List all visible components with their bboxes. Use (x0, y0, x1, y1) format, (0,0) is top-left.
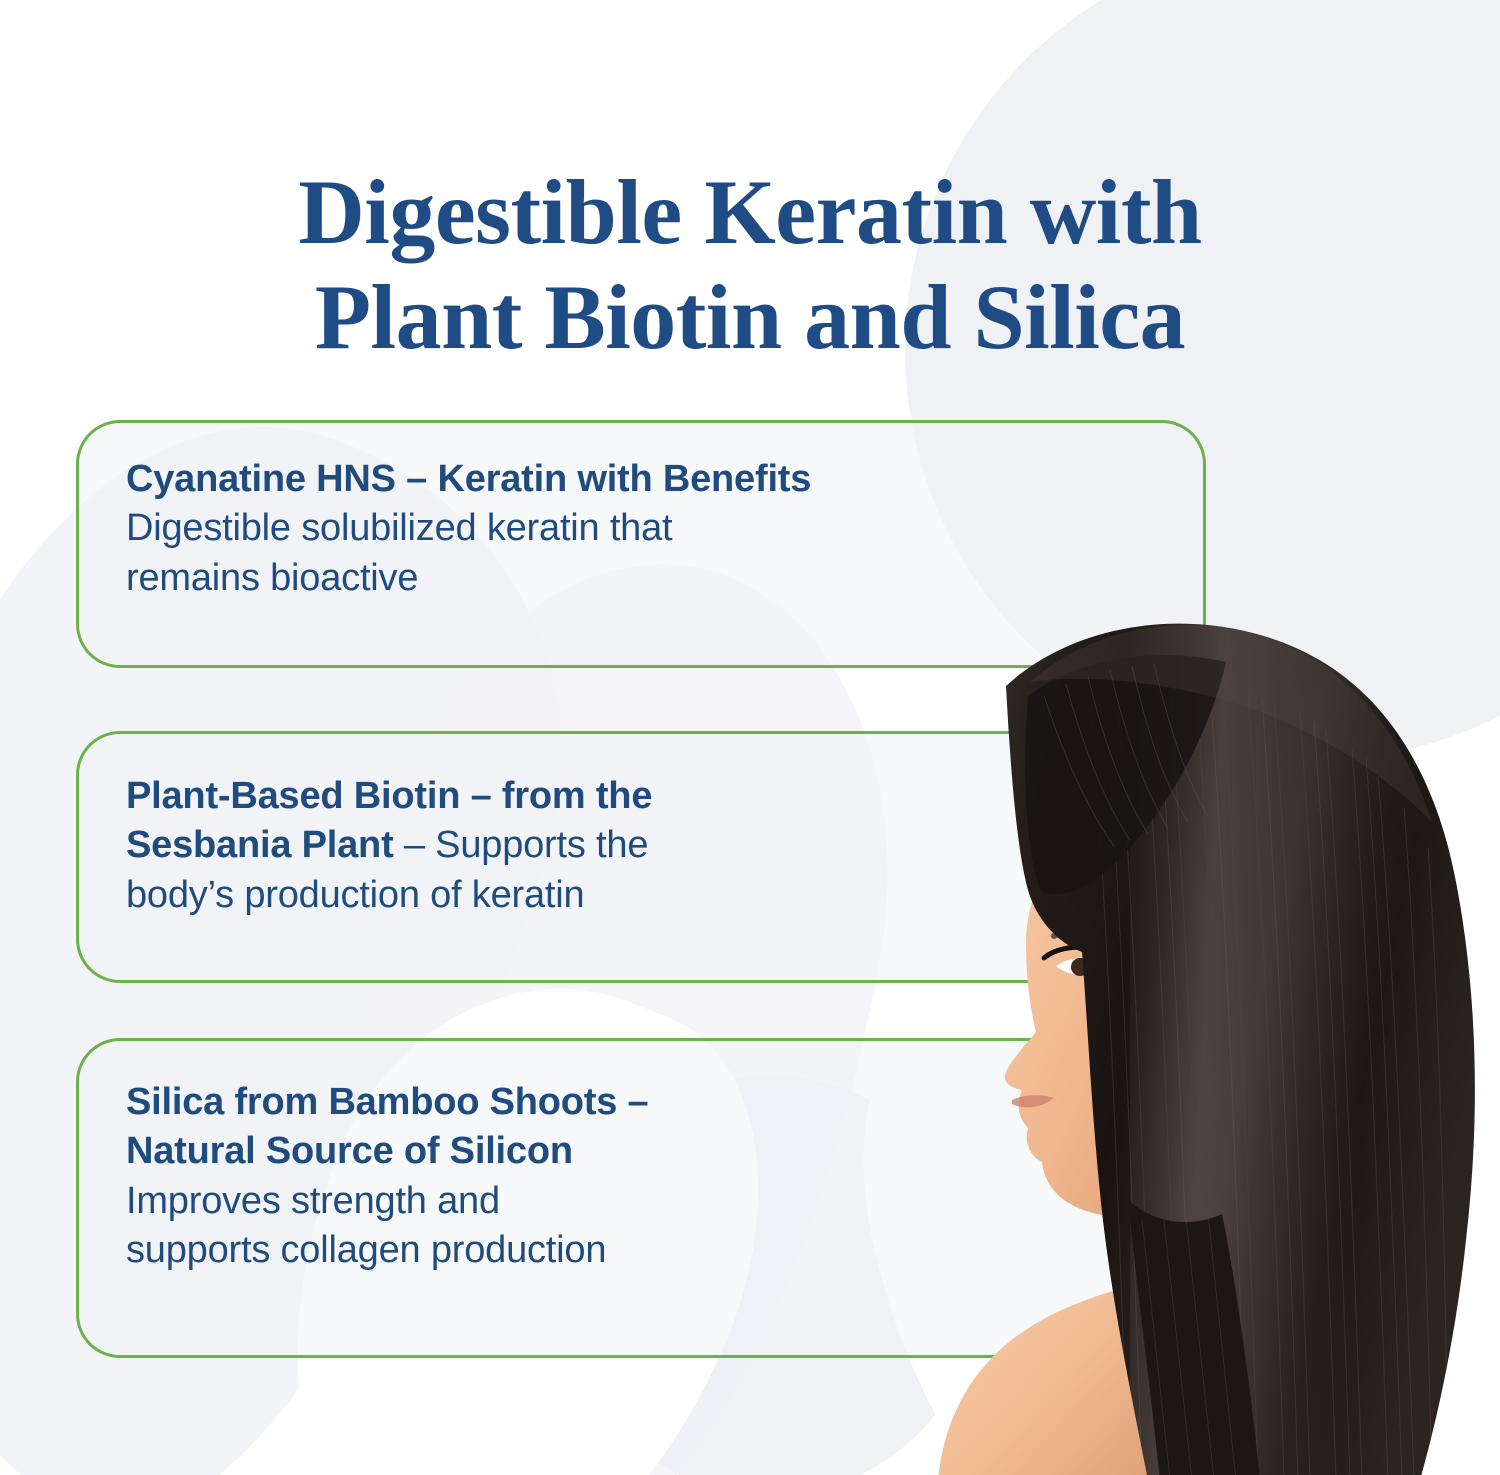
page-title-line-1: Digestible Keratin with (0, 160, 1500, 265)
benefit-heading-cyanatine: Cyanatine HNS – Keratin with Benefits (126, 455, 1136, 504)
benefit-text-plant-biotin: Plant-Based Biotin – from the Sesbania P… (126, 772, 906, 920)
benefit-body-plant-biotin-2: body’s production of keratin (126, 871, 906, 920)
benefit-text-silica: Silica from Bamboo Shoots – Natural Sour… (126, 1078, 886, 1276)
benefit-body-cyanatine-1: Digestible solubilized keratin that (126, 504, 1136, 553)
page-title-line-2: Plant Biotin and Silica (0, 265, 1500, 370)
infographic-canvas: Digestible Keratin with Plant Biotin and… (0, 0, 1500, 1475)
benefit-body-silica-2: supports collagen production (126, 1226, 886, 1275)
benefit-heading-plant-biotin-1: Plant-Based Biotin – from the (126, 772, 906, 821)
benefit-body-silica-1: Improves strength and (126, 1177, 886, 1226)
benefit-body-plant-biotin-1: – Supports the (394, 824, 649, 866)
benefit-heading-silica-1: Silica from Bamboo Shoots – (126, 1078, 886, 1127)
page-title: Digestible Keratin with Plant Biotin and… (0, 160, 1500, 370)
benefit-heading-silica-2: Natural Source of Silicon (126, 1127, 886, 1176)
benefit-heading-plant-biotin-2: Sesbania Plant – Supports the (126, 821, 906, 870)
benefit-body-cyanatine-2: remains bioactive (126, 554, 1136, 603)
benefit-heading-plant-biotin-bold: Sesbania Plant (126, 824, 394, 866)
benefit-text-cyanatine: Cyanatine HNS – Keratin with Benefits Di… (126, 455, 1136, 603)
